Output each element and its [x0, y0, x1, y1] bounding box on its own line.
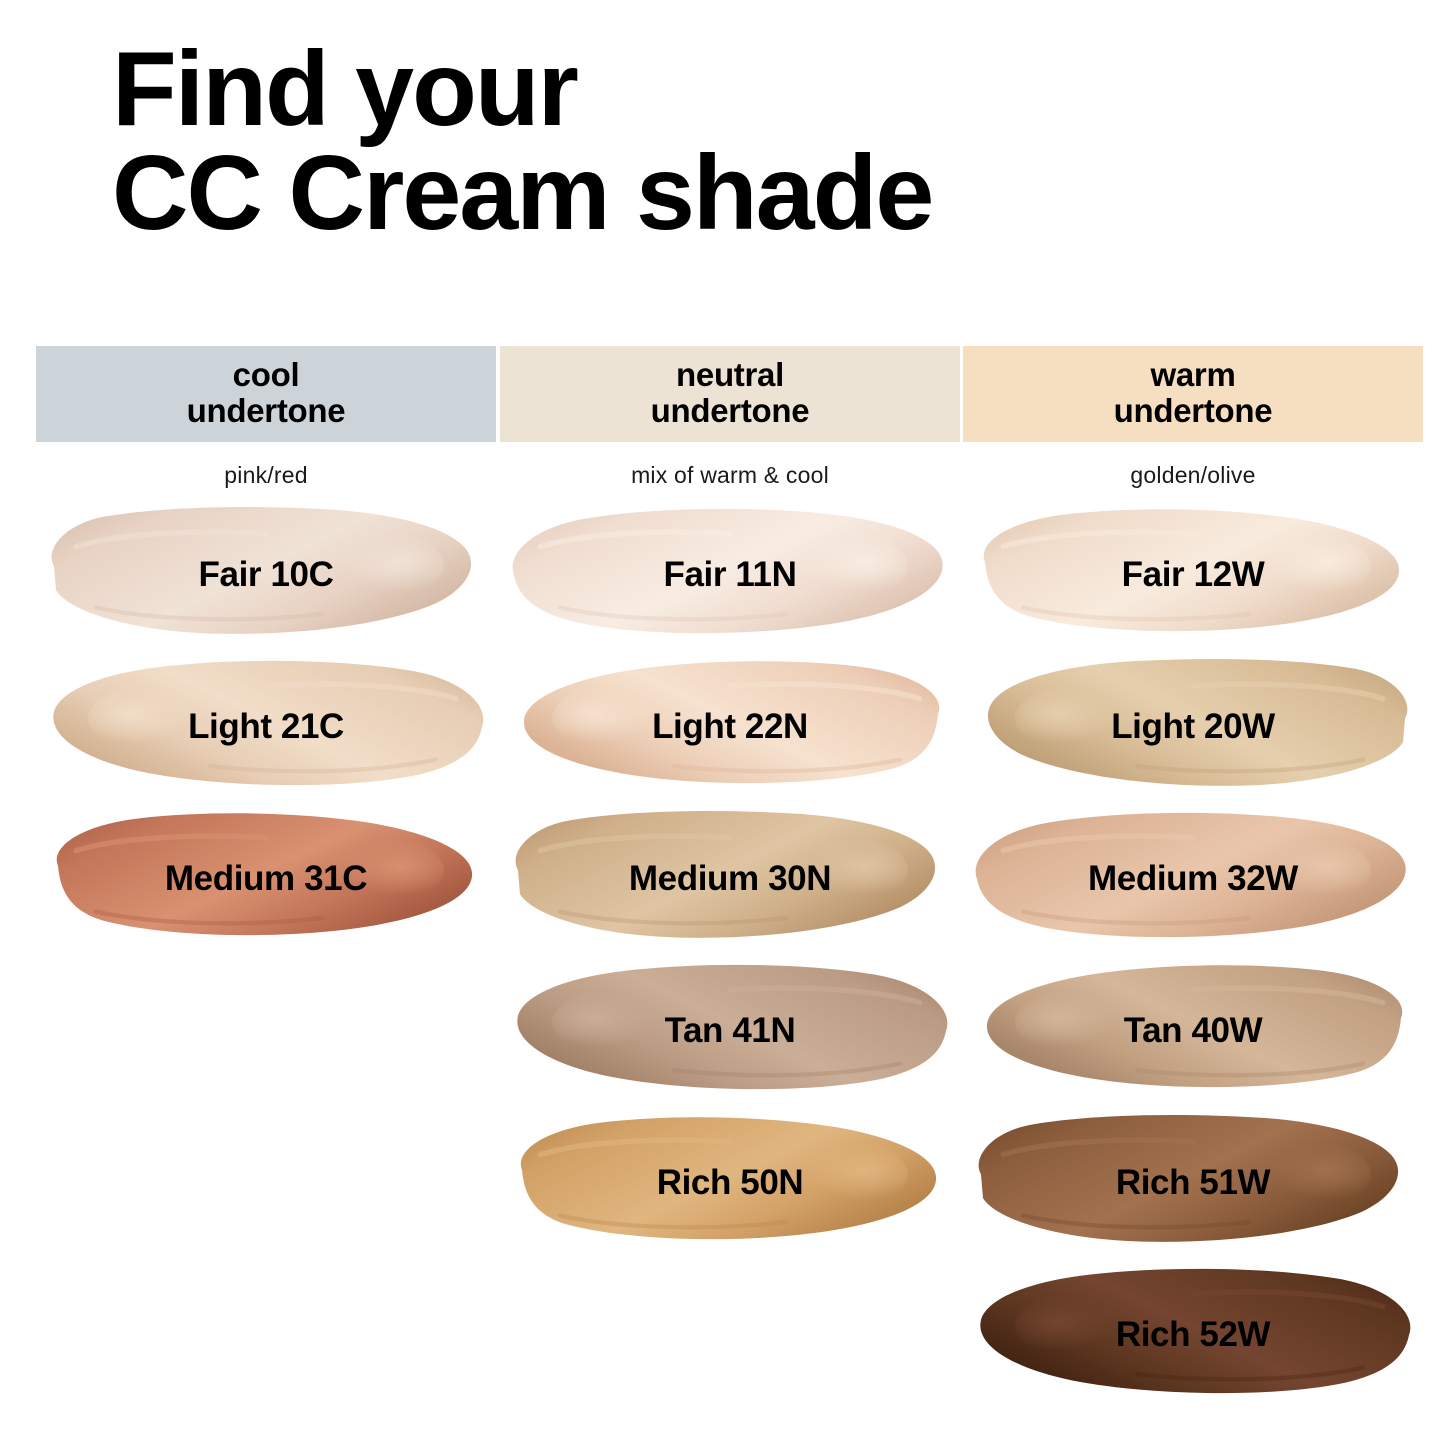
column-cool-undertone: cool undertone pink/red Fair 10C Light 2…: [36, 346, 496, 955]
column-neutral-undertone: neutral undertone mix of warm & cool Fai…: [500, 346, 960, 1259]
swatch-item: Light 21C: [36, 651, 496, 803]
column-header-warm-line-2: undertone: [1114, 393, 1273, 429]
column-header-cool-line-2: undertone: [187, 393, 346, 429]
swatch-item: Medium 31C: [36, 803, 496, 955]
column-warm-undertone: warm undertone golden/olive Fair 12W Lig…: [963, 346, 1423, 1411]
swatch-item: Tan 40W: [963, 955, 1423, 1107]
shade-label: Rich 52W: [1116, 1315, 1270, 1355]
shade-label: Tan 40W: [1124, 1011, 1263, 1051]
swatch-item: Rich 52W: [963, 1259, 1423, 1411]
column-header-warm: warm undertone: [963, 346, 1423, 442]
shade-label: Rich 50N: [657, 1163, 804, 1203]
shade-label: Light 22N: [652, 707, 808, 747]
column-header-neutral: neutral undertone: [500, 346, 960, 442]
swatch-item: Medium 30N: [500, 803, 960, 955]
column-header-cool-line-1: cool: [187, 357, 346, 393]
shade-label: Fair 10C: [199, 555, 334, 595]
swatch-list-neutral: Fair 11N Light 22N Medium 30N Tan 41N Ri…: [500, 499, 960, 1259]
column-header-neutral-line-2: undertone: [651, 393, 810, 429]
column-header-neutral-line-1: neutral: [651, 357, 810, 393]
shade-label: Fair 12W: [1122, 555, 1265, 595]
swatch-item: Light 22N: [500, 651, 960, 803]
column-header-warm-line-1: warm: [1114, 357, 1273, 393]
swatch-item: Rich 51W: [963, 1107, 1423, 1259]
page-title-line-2: CC Cream shade: [112, 142, 1362, 246]
swatch-list-warm: Fair 12W Light 20W Medium 32W Tan 40W Ri…: [963, 499, 1423, 1411]
column-subtitle-neutral: mix of warm & cool: [500, 462, 960, 489]
swatch-item: Fair 10C: [36, 499, 496, 651]
swatch-item: Medium 32W: [963, 803, 1423, 955]
shade-label: Medium 32W: [1088, 859, 1298, 899]
shade-label: Rich 51W: [1116, 1163, 1270, 1203]
swatch-item: Tan 41N: [500, 955, 960, 1107]
column-subtitle-cool: pink/red: [36, 462, 496, 489]
shade-label: Medium 31C: [165, 859, 367, 899]
shade-label: Light 20W: [1111, 707, 1275, 747]
column-subtitle-warm: golden/olive: [963, 462, 1423, 489]
swatch-item: Light 20W: [963, 651, 1423, 803]
swatch-item: Rich 50N: [500, 1107, 960, 1259]
swatch-item: Fair 11N: [500, 499, 960, 651]
page-title: Find your CC Cream shade: [112, 38, 1362, 246]
shade-label: Medium 30N: [629, 859, 831, 899]
page-title-line-1: Find your: [112, 38, 1362, 142]
shade-label: Tan 41N: [665, 1011, 796, 1051]
shade-columns: cool undertone pink/red Fair 10C Light 2…: [0, 346, 1445, 1445]
swatch-list-cool: Fair 10C Light 21C Medium 31C: [36, 499, 496, 955]
shade-label: Fair 11N: [664, 555, 797, 595]
shade-label: Light 21C: [188, 707, 344, 747]
column-header-cool: cool undertone: [36, 346, 496, 442]
swatch-item: Fair 12W: [963, 499, 1423, 651]
